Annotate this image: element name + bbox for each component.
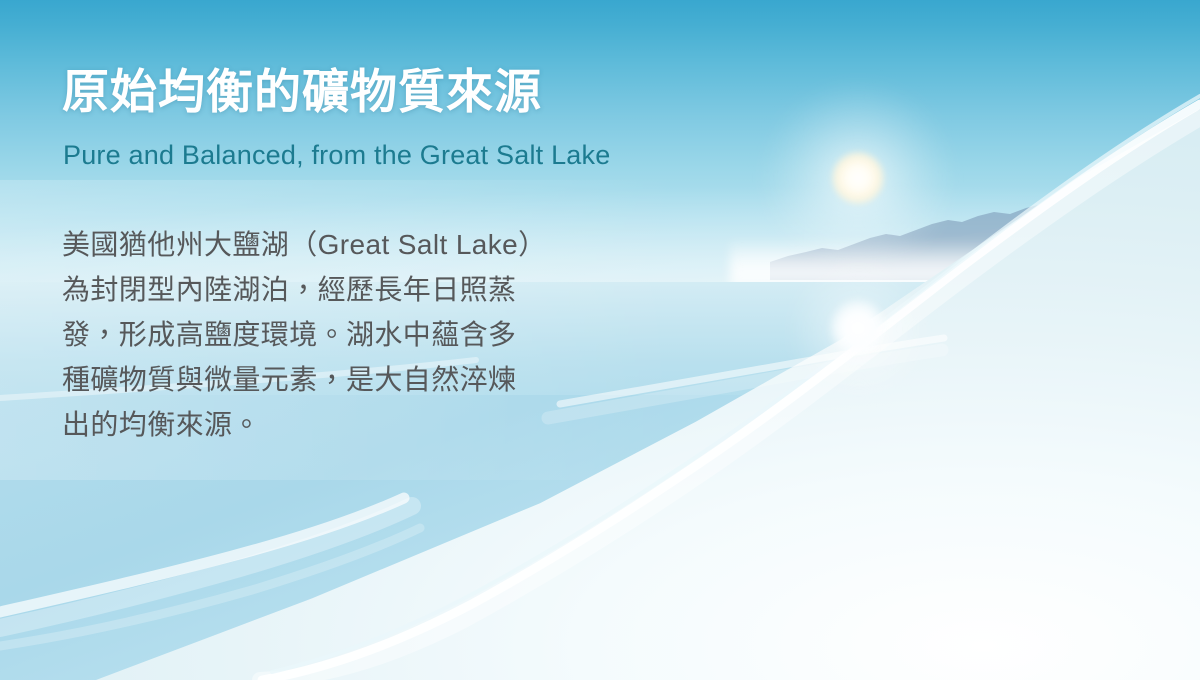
banner-body-copy: 美國猶他州大鹽湖（Great Salt Lake） 為封閉型內陸湖泊，經歷長年日… <box>62 222 622 447</box>
body-line: 為封閉型內陸湖泊，經歷長年日照蒸 <box>62 267 622 312</box>
sun-reflection <box>831 300 885 356</box>
body-line: 出的均衡來源。 <box>62 402 622 447</box>
banner-headline: 原始均衡的礦物質來源 <box>62 64 542 119</box>
body-line: 美國猶他州大鹽湖（Great Salt Lake） <box>62 222 622 267</box>
banner-subheadline: Pure and Balanced, from the Great Salt L… <box>63 139 610 173</box>
banner-text-block: 原始均衡的礦物質來源 Pure and Balanced, from the G… <box>62 0 702 680</box>
body-line: 種礦物質與微量元素，是大自然淬煉 <box>62 357 622 402</box>
sun-icon <box>832 152 884 204</box>
great-salt-lake-banner: 原始均衡的礦物質來源 Pure and Balanced, from the G… <box>0 0 1200 680</box>
body-line: 發，形成高鹽度環境。湖水中蘊含多 <box>62 312 622 357</box>
